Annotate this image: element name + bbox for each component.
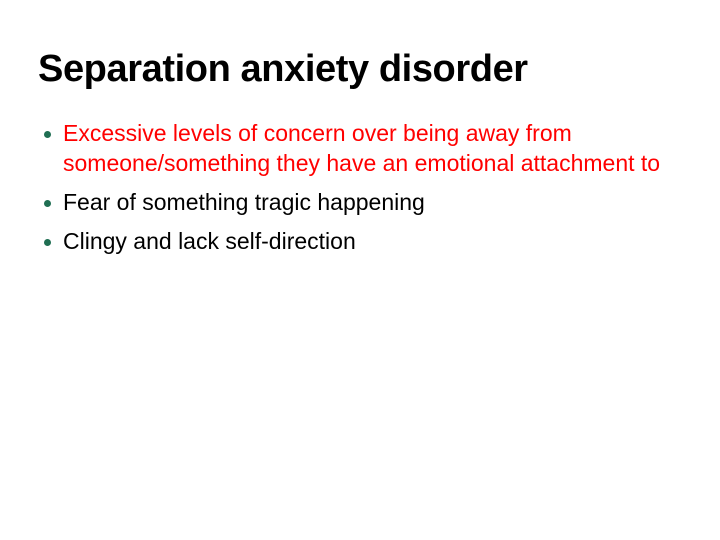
list-item: Fear of something tragic happening xyxy=(40,188,690,218)
list-item: Excessive levels of concern over being a… xyxy=(40,119,690,179)
bullet-dot-icon xyxy=(44,239,51,246)
bullet-dot-icon xyxy=(44,200,51,207)
list-item-label: Fear of something tragic happening xyxy=(63,188,690,218)
presentation-slide: Separation anxiety disorder Excessive le… xyxy=(0,0,720,540)
bullet-list: Excessive levels of concern over being a… xyxy=(40,119,690,257)
bullet-dot-icon xyxy=(44,131,51,138)
page-title: Separation anxiety disorder xyxy=(38,48,688,91)
list-item: Clingy and lack self-direction xyxy=(40,227,690,257)
list-item-label: Clingy and lack self-direction xyxy=(63,227,690,257)
list-item-label: Excessive levels of concern over being a… xyxy=(63,119,690,179)
